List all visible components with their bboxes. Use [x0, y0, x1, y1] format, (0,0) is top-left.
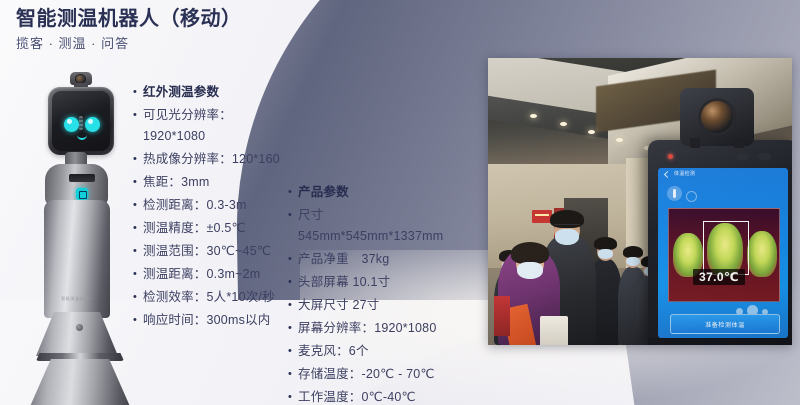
- scene-photo: 体温检测 37.0℃ 准备检测体温: [488, 58, 792, 345]
- bullet-icon: •: [288, 295, 298, 316]
- robot-eye-right-icon: [85, 117, 100, 132]
- spec-text: 焦距：3mm: [143, 172, 209, 193]
- spec-text: 屏幕分辨率：1920*1080: [298, 318, 436, 339]
- bullet-icon: •: [288, 249, 298, 270]
- bullet-icon: •: [133, 241, 143, 262]
- bullet-icon: •: [288, 272, 298, 293]
- spec-text: 测温范围：30℃~45℃: [143, 241, 271, 262]
- bullet-icon: •: [133, 264, 143, 285]
- device-status-led-icon: [668, 154, 673, 159]
- spec-group-heading: •红外测温参数: [133, 82, 323, 103]
- robot-skirt: [28, 359, 132, 405]
- wifi-dot-icon: [686, 191, 697, 202]
- bullet-icon: •: [288, 182, 298, 203]
- bullet-icon: •: [133, 105, 143, 126]
- spec-text: 测温精度：±0.5℃: [143, 218, 246, 239]
- device-sensor-left-icon: [736, 153, 749, 160]
- device-sensor-right-icon: [758, 153, 771, 160]
- spec-item: •头部屏幕 10.1寸: [288, 272, 498, 293]
- robot-brand-label: 智能测温机器人: [61, 296, 93, 302]
- spec-item: •产品净重 37kg: [288, 249, 498, 270]
- device-screen-topbar: 体温检测: [658, 168, 788, 182]
- robot-face-screen: [52, 91, 110, 151]
- bullet-icon: •: [133, 287, 143, 308]
- robot-port-icon: [76, 324, 83, 331]
- spec-item: •屏幕分辨率：1920*1080: [288, 318, 498, 339]
- robot-illustration: 智能测温机器人: [22, 72, 140, 402]
- spec-text: 热成像分辨率：120*160: [143, 149, 280, 170]
- page-subtitle: 揽客 · 测温 · 问答: [16, 34, 242, 54]
- slide: 智能测温机器人（移动） 揽客 · 测温 · 问答 智能测温机器人: [0, 0, 800, 405]
- spec-text: 产品净重 37kg: [298, 249, 389, 270]
- thermometer-icon: [667, 186, 682, 201]
- spec-text: 可见光分辨率： 1920*1080: [143, 105, 232, 147]
- face-detect-box: [703, 221, 749, 275]
- robot-badge-icon: [76, 188, 88, 200]
- spec-text: 检测距离：0.3-3m: [143, 195, 247, 216]
- bullet-icon: •: [133, 310, 143, 331]
- spec-text: 大屏尺寸 27寸: [298, 295, 379, 316]
- spec-text: 测温距离：0.3m~2m: [143, 264, 260, 285]
- spec-item: •大屏尺寸 27寸: [288, 295, 498, 316]
- robot-torso: 智能测温机器人: [44, 200, 110, 318]
- bullet-icon: •: [288, 318, 298, 339]
- device-camera-icon: [680, 88, 754, 146]
- spec-text: 检测效率：5人*10次/秒: [143, 287, 275, 308]
- device-screen[interactable]: 体温检测 37.0℃ 准备检测体温: [658, 168, 788, 338]
- thermal-image: 37.0℃: [668, 208, 780, 302]
- spec-item: •可见光分辨率： 1920*1080: [133, 105, 323, 147]
- temperature-reading: 37.0℃: [693, 269, 745, 285]
- robot-sensor-slot: [69, 174, 95, 182]
- bullet-icon: •: [288, 205, 298, 226]
- spec-text: 响应时间：300ms以内: [143, 310, 270, 331]
- spec-list-product: •产品参数•尺寸 545mm*545mm*1337mm•产品净重 37kg•头部…: [288, 182, 498, 405]
- device-bottom-bezel: [648, 338, 792, 345]
- spec-item: •麦克风：6个: [288, 341, 498, 362]
- photo-wall-sign: [532, 210, 552, 223]
- robot-camera-lens-icon: [76, 75, 85, 83]
- spec-text: 存储温度：-20℃ - 70℃: [298, 364, 435, 385]
- bullet-icon: •: [133, 172, 143, 193]
- bullet-icon: •: [133, 195, 143, 216]
- spec-item: •尺寸 545mm*545mm*1337mm: [288, 205, 498, 247]
- spec-item: •工作温度：0℃-40℃: [288, 387, 498, 405]
- back-chevron-icon[interactable]: [664, 171, 669, 179]
- bullet-icon: •: [133, 82, 143, 103]
- robot-waist: [36, 312, 118, 356]
- spec-text: 麦克风：6个: [298, 341, 369, 362]
- spec-text: 头部屏幕 10.1寸: [298, 272, 390, 293]
- thermal-device: 体温检测 37.0℃ 准备检测体温: [648, 140, 792, 345]
- header: 智能测温机器人（移动） 揽客 · 测温 · 问答: [16, 4, 242, 54]
- bullet-icon: •: [288, 341, 298, 362]
- start-measure-button[interactable]: 准备检测体温: [670, 314, 780, 334]
- spec-item: •存储温度：-20℃ - 70℃: [288, 364, 498, 385]
- robot-head: [48, 87, 114, 155]
- robot-eye-left-icon: [64, 117, 79, 132]
- spec-text: 红外测温参数: [143, 82, 219, 103]
- device-camera-lens-icon: [698, 98, 736, 136]
- page-title: 智能测温机器人（移动）: [16, 4, 242, 34]
- device-screen-title: 体温检测: [674, 170, 695, 177]
- bullet-icon: •: [133, 149, 143, 170]
- spec-item: •热成像分辨率：120*160: [133, 149, 323, 170]
- spec-text: 产品参数: [298, 182, 349, 203]
- spec-group-heading: •产品参数: [288, 182, 498, 203]
- spec-text: 工作温度：0℃-40℃: [298, 387, 416, 405]
- robot-speaker-grille-icon: [79, 116, 83, 130]
- start-measure-button-label: 准备检测体温: [705, 320, 745, 329]
- bullet-icon: •: [288, 364, 298, 385]
- bullet-icon: •: [288, 387, 298, 405]
- spec-text: 尺寸 545mm*545mm*1337mm: [298, 205, 443, 247]
- robot-mouth-icon: [77, 133, 87, 140]
- bullet-icon: •: [133, 218, 143, 239]
